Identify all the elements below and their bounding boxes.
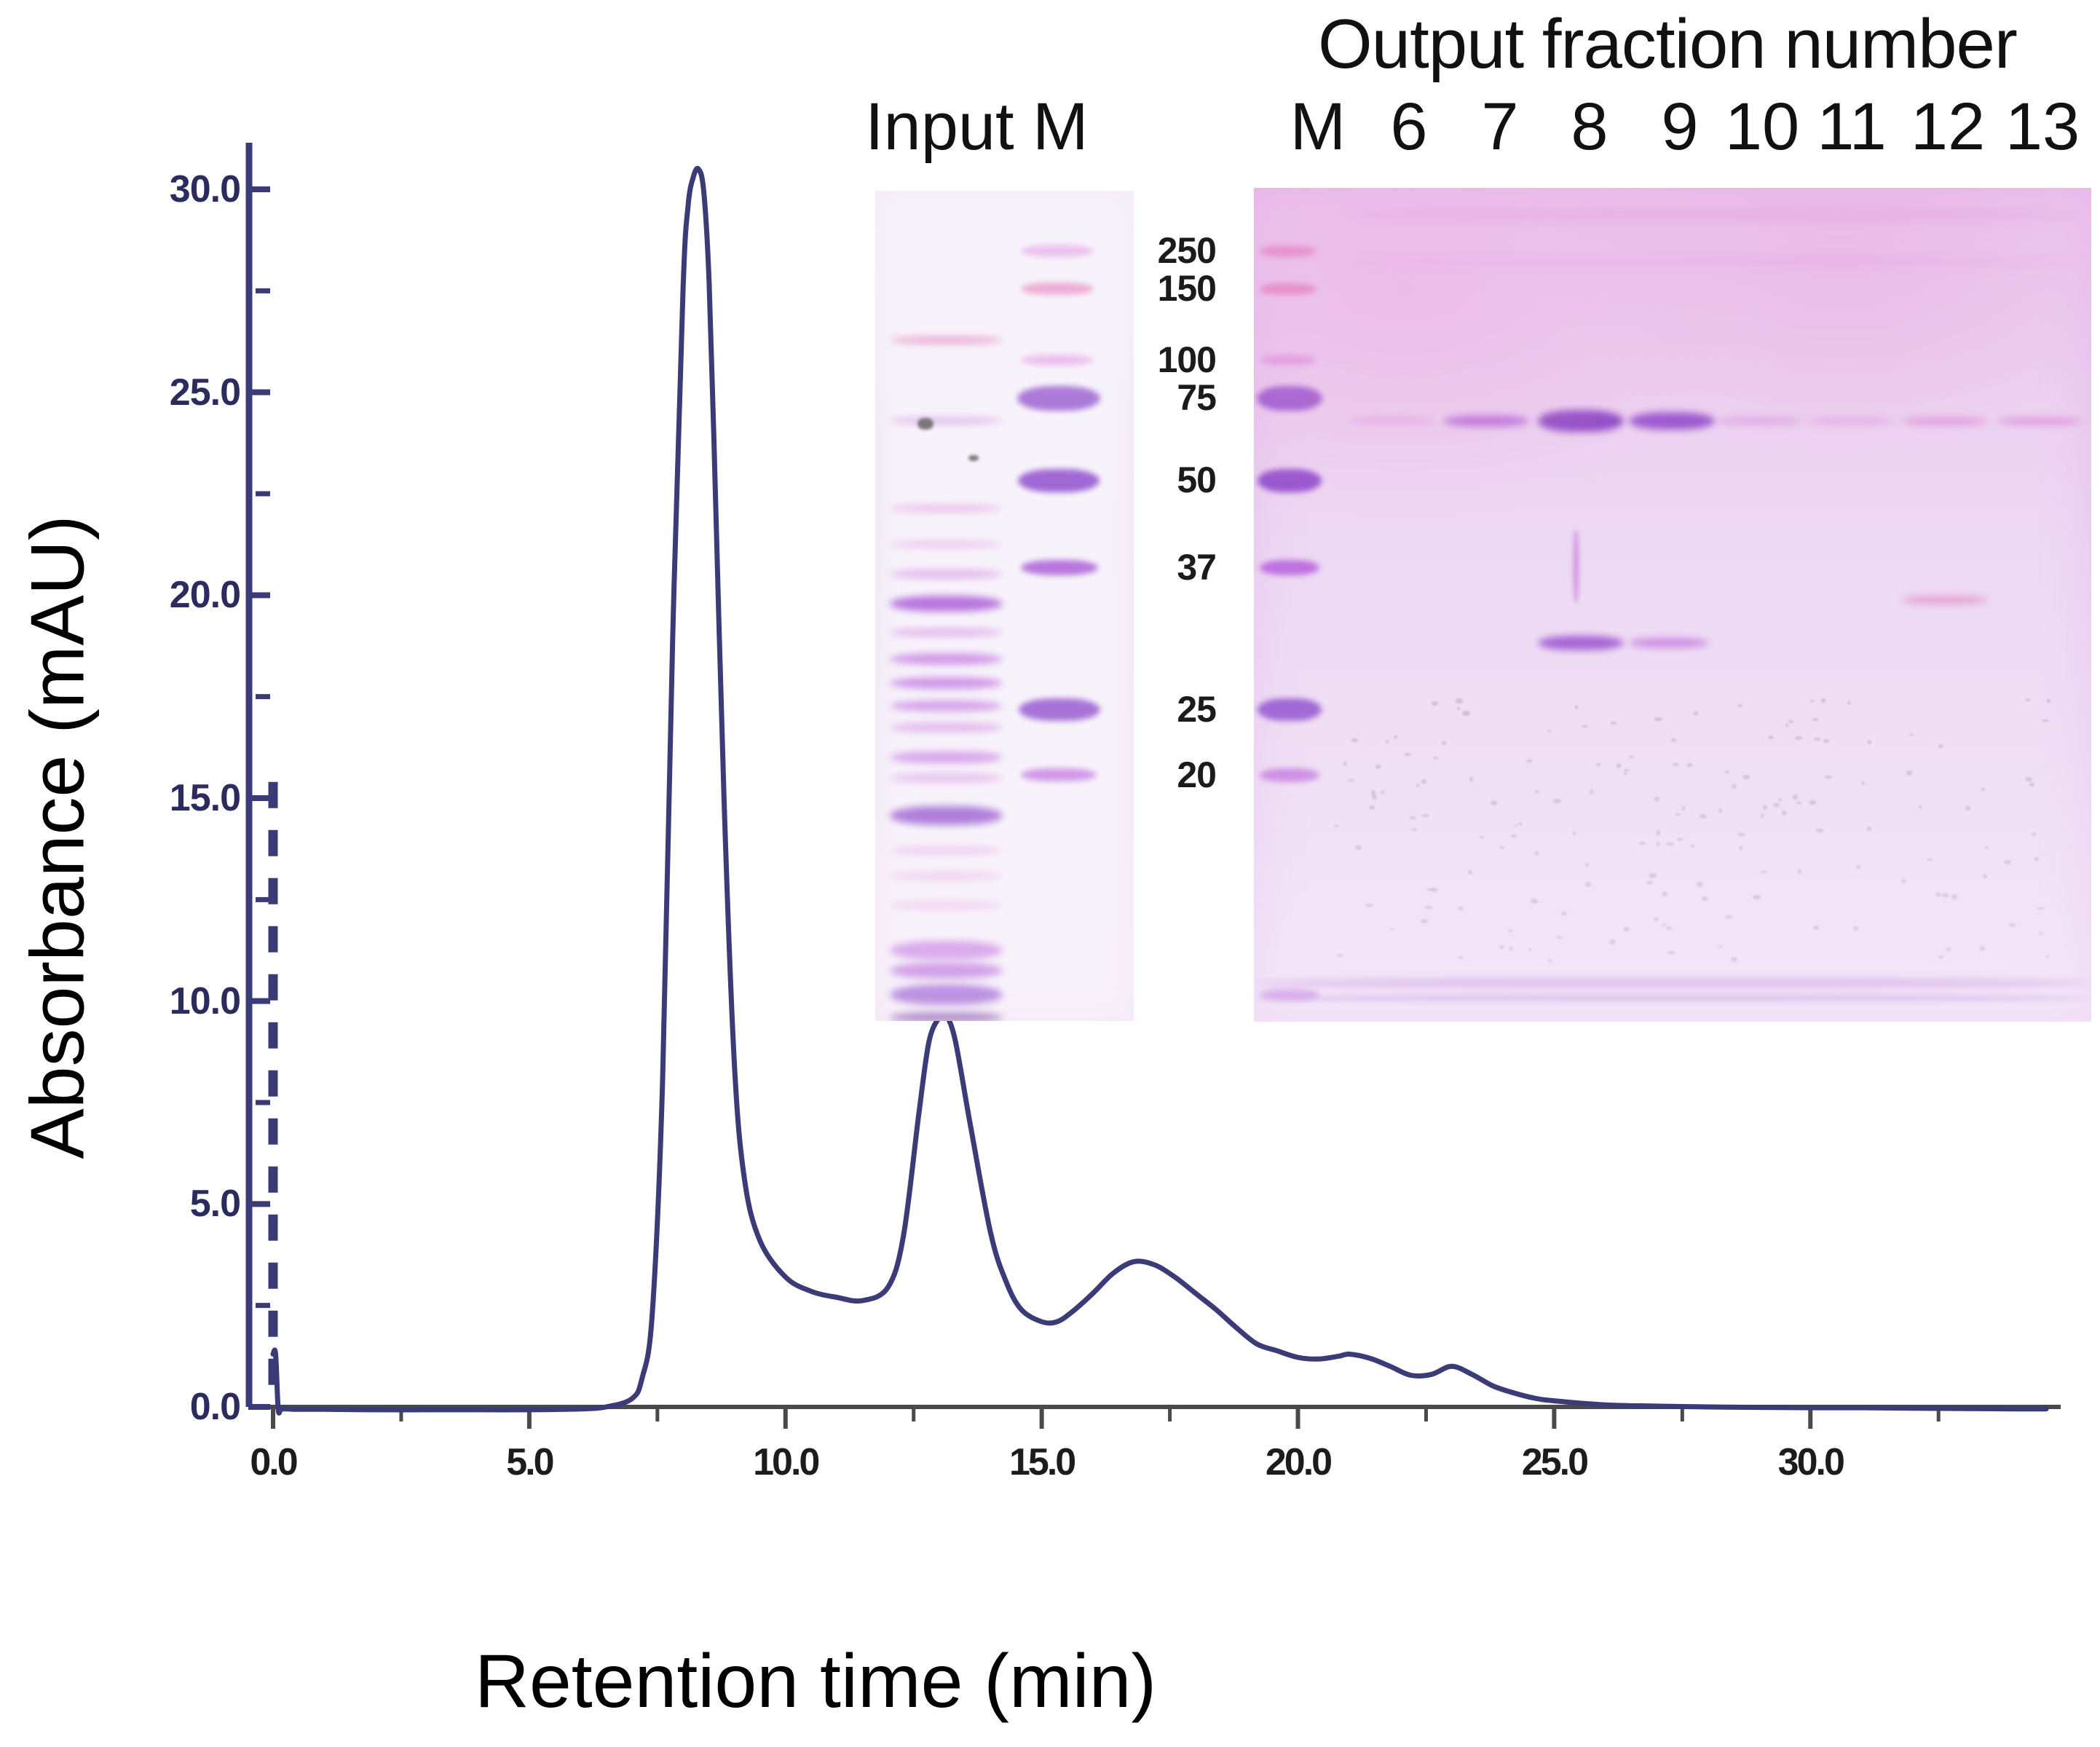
gel-band	[890, 540, 1003, 548]
gel-band	[890, 901, 1003, 910]
gel-band	[1654, 717, 1662, 721]
gel-band	[1649, 873, 1657, 878]
gel-band	[1654, 797, 1660, 802]
gel-lane-label-13: 13	[1995, 89, 2090, 165]
gel-band	[1547, 730, 1551, 733]
gel-band	[1906, 770, 1913, 776]
gel-band	[1416, 784, 1420, 787]
gel-band	[1985, 847, 1989, 850]
gel-band	[1814, 738, 1820, 741]
gel-band	[1725, 915, 1732, 918]
gel-lane-label-7: 7	[1453, 89, 1547, 165]
gel-band	[1515, 824, 1517, 827]
gel-band	[1258, 469, 1322, 492]
gel-band	[1816, 829, 1823, 833]
x-tick-label: 0.0	[204, 1440, 342, 1484]
gel-band	[2025, 777, 2032, 781]
gel-band	[2039, 932, 2043, 935]
gel-band	[1825, 776, 1832, 778]
gel-band	[1938, 744, 1943, 748]
gel-band	[1798, 869, 1801, 874]
gel-band	[1662, 891, 1667, 896]
gel-band	[1443, 415, 1529, 427]
gel-band	[1511, 835, 1517, 837]
gel-band	[1718, 945, 1722, 948]
gel-band	[1409, 816, 1416, 819]
x-tick-label: 20.0	[1229, 1440, 1367, 1484]
gel-band	[1718, 808, 1722, 813]
gel-band	[1531, 899, 1538, 904]
gel-band	[1761, 813, 1764, 819]
gel-band	[890, 985, 1003, 1005]
gel-band	[2047, 699, 2050, 703]
gel-band	[1809, 800, 1815, 805]
y-tick-label: 10.0	[117, 979, 240, 1023]
gel-band	[1951, 894, 1957, 899]
gel-band	[1938, 955, 1944, 958]
x-tick-label: 25.0	[1485, 1440, 1623, 1484]
gel-band	[1548, 959, 1551, 961]
gel-band	[1386, 740, 1389, 744]
gel-band	[1624, 769, 1630, 771]
gel-band	[1761, 871, 1766, 873]
gel-band	[890, 722, 1003, 733]
gel-band	[1738, 704, 1742, 707]
gel-band	[1919, 805, 1922, 808]
gel-band	[1458, 907, 1464, 910]
gel-band	[1847, 701, 1851, 704]
gel-band	[1585, 882, 1591, 886]
gel-band	[890, 504, 1003, 513]
gel-band	[1980, 946, 1985, 951]
gel-band	[1021, 245, 1094, 257]
gel-band	[1788, 720, 1793, 722]
gel-band	[1260, 283, 1317, 295]
gel-band	[1421, 779, 1426, 784]
gel-band	[1528, 948, 1531, 951]
gel-band	[1942, 894, 1949, 897]
gel-band	[2042, 719, 2049, 722]
gel-band	[1254, 978, 2091, 988]
gel-band	[1343, 762, 1347, 765]
gel-band	[1596, 763, 1600, 766]
gel-band	[1902, 417, 1988, 425]
gel-band	[1702, 896, 1708, 901]
gel-band	[890, 417, 1003, 425]
gel-band	[1258, 698, 1322, 721]
gel-band	[1457, 707, 1461, 709]
gel-band	[1421, 919, 1428, 923]
gel-band	[1753, 895, 1760, 899]
y-tick-label: 20.0	[117, 573, 240, 617]
gel-band	[1432, 888, 1437, 893]
gel-band	[1687, 763, 1692, 767]
gel-band	[1611, 722, 1617, 725]
x-tick-label: 15.0	[973, 1440, 1111, 1484]
gel-band	[1657, 842, 1659, 846]
gel-band	[1666, 926, 1672, 930]
gel-band	[1405, 753, 1412, 756]
gel-band	[1351, 738, 1358, 743]
gel-band	[1662, 924, 1667, 926]
y-tick-label: 5.0	[117, 1182, 240, 1226]
gel-panel-output	[1254, 188, 2091, 1022]
gel-band	[1716, 417, 1802, 425]
gel-band	[1725, 770, 1729, 773]
gel-band	[1468, 870, 1472, 875]
output-panel-header: Output fraction number	[1318, 4, 2017, 84]
gel-band	[1654, 918, 1659, 921]
gel-band	[1334, 825, 1339, 827]
gel-band	[1812, 718, 1817, 721]
gel-band	[1260, 245, 1317, 257]
gel-band	[1667, 951, 1675, 955]
gel-band	[1349, 417, 1434, 425]
gel-band	[1365, 904, 1373, 906]
gel-band	[890, 653, 1003, 665]
gel-band	[1575, 705, 1578, 709]
gel-band	[1823, 739, 1829, 743]
gel-band	[1257, 386, 1322, 411]
gel-band	[1902, 879, 1906, 883]
gel-band	[1371, 790, 1375, 795]
gel-band	[917, 418, 933, 430]
gel-band	[890, 752, 1003, 763]
gel-band	[890, 596, 1003, 612]
y-tick-label: 25.0	[117, 371, 240, 414]
gel-band	[1341, 257, 2084, 266]
gel-band	[890, 677, 1003, 689]
gel-lane-label-9: 9	[1633, 89, 1727, 165]
gel-lane-label-input: Input	[865, 89, 1014, 165]
gel-band	[1573, 832, 1576, 835]
gel-band	[1697, 882, 1704, 887]
gel-band	[890, 773, 1003, 783]
gel-band	[1810, 700, 1813, 703]
x-tick-label: 10.0	[717, 1440, 855, 1484]
gel-band	[890, 941, 1003, 960]
gel-band	[1624, 772, 1627, 776]
mw-marker-label: 150	[1136, 267, 1216, 309]
gel-band	[1862, 781, 1865, 785]
y-tick-label: 0.0	[117, 1385, 240, 1429]
gel-band	[1390, 928, 1394, 931]
gel-band	[890, 1012, 1003, 1021]
gel-band	[1573, 530, 1579, 603]
gel-band	[1582, 725, 1588, 728]
y-tick-label: 15.0	[117, 776, 240, 820]
gel-band	[2029, 783, 2034, 786]
gel-band	[1480, 836, 1484, 838]
gel-lane-label-6: 6	[1362, 89, 1456, 165]
gel-lane-label-12: 12	[1900, 89, 1995, 165]
gel-band	[890, 336, 1003, 344]
gel-band	[1018, 469, 1100, 492]
mw-marker-label: 100	[1136, 339, 1216, 381]
gel-band	[1372, 794, 1377, 800]
gel-lane-label-11: 11	[1804, 89, 1899, 165]
gel-band	[1815, 926, 1819, 930]
gel-band	[890, 628, 1003, 637]
gel-band	[1535, 851, 1539, 856]
gel-band	[1254, 995, 2091, 1001]
gel-band	[1499, 945, 1504, 949]
gel-band	[1910, 733, 1914, 736]
gel-lane-label-input-marker: M	[1033, 89, 1089, 165]
gel-band	[1935, 893, 1941, 896]
gel-band	[2032, 832, 2035, 836]
gel-band	[1509, 947, 1513, 951]
mw-marker-label: 75	[1136, 376, 1216, 419]
gel-band	[1813, 927, 1817, 930]
gel-band	[1965, 806, 1970, 811]
gel-band	[1499, 846, 1505, 848]
gel-band	[1432, 701, 1438, 706]
gel-band	[1629, 638, 1709, 648]
gel-band	[1796, 802, 1803, 804]
gel-band	[1260, 355, 1317, 366]
mw-marker-label: 25	[1136, 688, 1216, 730]
gel-band	[1456, 698, 1463, 703]
gel-band	[1731, 957, 1737, 961]
gel-band	[1341, 210, 2084, 220]
gel-band	[1946, 947, 1951, 951]
gel-band	[1348, 779, 1354, 781]
y-axis-title: Absorbance (mAU)	[15, 510, 102, 1165]
mw-marker-label: 250	[1136, 229, 1216, 272]
gel-band	[1902, 596, 1988, 604]
gel-band	[1337, 954, 1343, 957]
gel-band	[1657, 830, 1660, 835]
gel-band	[1426, 888, 1434, 891]
gel-band	[1508, 929, 1513, 932]
gel-band	[890, 701, 1003, 711]
gel-band	[1561, 912, 1566, 915]
gel-band	[1739, 846, 1742, 850]
gel-band	[1700, 814, 1707, 819]
gel-band	[1617, 763, 1621, 768]
gel-band	[1369, 805, 1375, 810]
gel-band	[1629, 756, 1634, 758]
gel-band	[1260, 560, 1319, 575]
gel-band	[1021, 283, 1094, 295]
gel-band	[1997, 417, 2083, 425]
gel-band	[1666, 843, 1673, 845]
gel-band	[1742, 775, 1750, 779]
gel-band	[1442, 741, 1446, 745]
gel-band	[968, 455, 979, 461]
y-tick-label: 30.0	[117, 167, 240, 211]
mw-marker-label: 20	[1136, 754, 1216, 796]
gel-band	[1778, 798, 1782, 801]
gel-band	[1585, 863, 1589, 867]
gel-band	[2034, 857, 2039, 860]
gel-band	[1793, 794, 1797, 800]
gel-band	[1768, 736, 1775, 740]
gel-band	[1458, 956, 1463, 959]
gel-band	[1732, 784, 1736, 789]
gel-band	[1556, 936, 1562, 939]
gel-band	[890, 846, 1003, 855]
gel-band	[1425, 906, 1432, 909]
x-axis-title: Retention time (min)	[379, 1638, 1252, 1725]
gel-band	[890, 963, 1003, 979]
gel-band	[1355, 845, 1362, 850]
gel-band	[1590, 789, 1594, 794]
gel-band	[890, 872, 1003, 880]
gel-panel-input	[875, 191, 1134, 1021]
gel-band	[1691, 845, 1694, 848]
gel-band	[1694, 711, 1698, 715]
gel-band	[2045, 955, 2050, 958]
gel-band	[1682, 806, 1685, 811]
gel-band	[1609, 939, 1616, 945]
gel-band	[1469, 777, 1472, 781]
gel-band	[1381, 791, 1385, 794]
gel-band	[1412, 828, 1417, 831]
gel-band	[1260, 989, 1319, 1001]
gel-band	[1671, 738, 1676, 741]
gel-band	[1795, 736, 1802, 740]
gel-band	[1856, 865, 1860, 868]
gel-band	[1785, 724, 1789, 727]
gel-band	[1807, 417, 1893, 425]
gel-band	[1535, 790, 1539, 793]
gel-band	[1867, 827, 1871, 831]
gel-band	[1394, 736, 1397, 738]
gel-band	[1981, 788, 1985, 791]
gel-band	[1021, 355, 1094, 366]
gel-band	[1021, 560, 1098, 575]
gel-band	[2004, 860, 2011, 864]
gel-band	[890, 569, 1003, 579]
gel-band	[1821, 698, 1825, 702]
gel-band	[1639, 842, 1646, 845]
gel-band	[1375, 765, 1381, 768]
gel-band	[1462, 711, 1470, 716]
gel-lane-label-8: 8	[1542, 89, 1637, 165]
gel-band	[1538, 636, 1624, 650]
gel-band	[2037, 907, 2045, 910]
gel-band	[1519, 822, 1523, 826]
gel-lane-label-10: 10	[1715, 89, 1809, 165]
gel-band	[1853, 926, 1858, 931]
gel-band	[1017, 386, 1100, 411]
gel-band	[1553, 799, 1560, 803]
gel-band	[1868, 740, 1871, 744]
gel-band	[1629, 412, 1715, 430]
gel-band	[1773, 803, 1780, 808]
gel-band	[1673, 763, 1679, 766]
mw-marker-label: 50	[1136, 459, 1216, 501]
gel-lane-label-M: M	[1271, 89, 1365, 165]
gel-band	[1763, 805, 1767, 810]
mw-marker-label: 37	[1136, 546, 1216, 588]
gel-band	[1021, 768, 1097, 781]
gel-band	[1983, 874, 1988, 878]
x-tick-label: 5.0	[460, 1440, 599, 1484]
gel-band	[1422, 814, 1430, 817]
gel-band	[1526, 760, 1533, 762]
gel-band	[2009, 923, 2016, 928]
gel-band	[2026, 698, 2030, 701]
gel-band	[1260, 768, 1319, 782]
gel-band	[1675, 813, 1681, 816]
gel-band	[1677, 838, 1683, 840]
gel-band	[1646, 881, 1653, 883]
gel-band	[1927, 859, 1933, 861]
gel-band	[1491, 801, 1497, 805]
gel-band	[1737, 833, 1744, 836]
gel-band	[1623, 927, 1630, 931]
gel-band	[1433, 757, 1438, 759]
gel-band	[1782, 811, 1787, 815]
gel-band	[1538, 410, 1624, 432]
gel-band	[890, 806, 1003, 825]
gel-band	[1019, 698, 1100, 721]
x-tick-label: 30.0	[1741, 1440, 1879, 1484]
